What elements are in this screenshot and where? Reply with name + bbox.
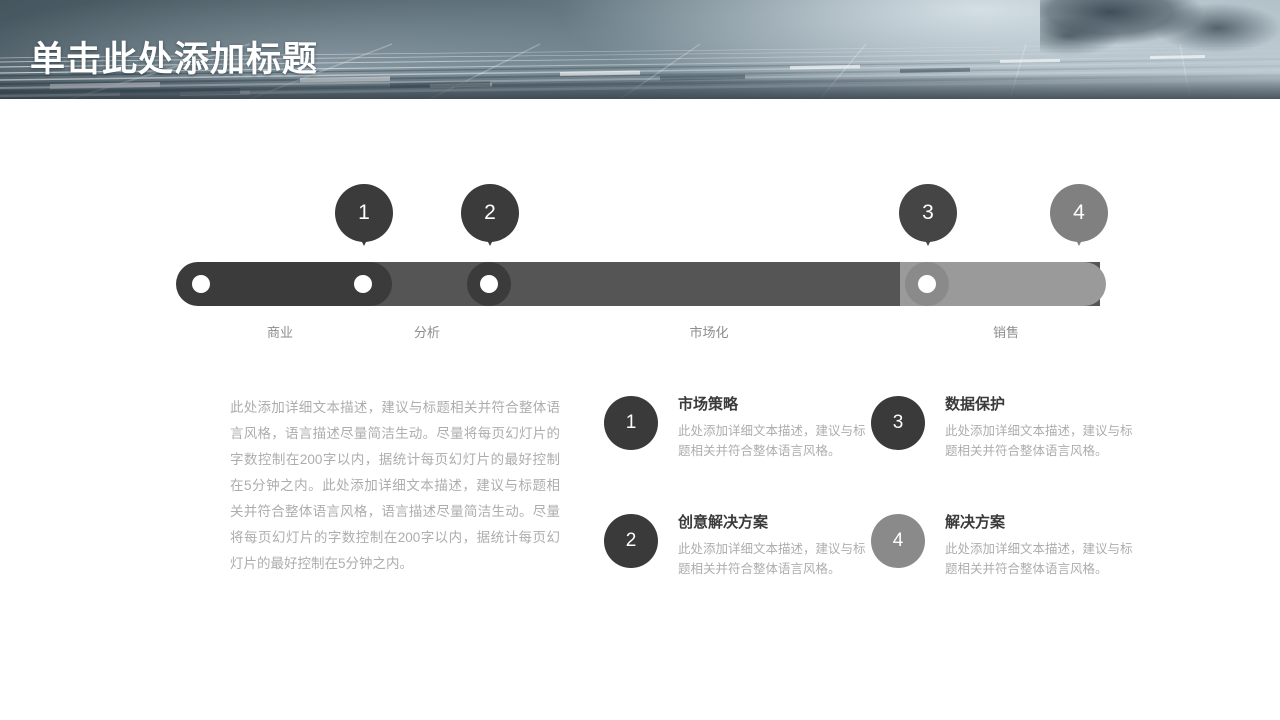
timeline-node-2[interactable] (341, 262, 385, 306)
timeline-phase-label-1: 商业 (267, 322, 293, 341)
timeline-node-dot (354, 275, 372, 293)
feature-item-text-block: 数据保护 此处添加详细文本描述，建议与标题相关并符合整体语言风格。 (945, 396, 1135, 461)
timeline-node-3[interactable] (467, 262, 511, 306)
dark-cloud-graphic (1040, 0, 1280, 62)
feature-item-text-block: 创意解决方案 此处添加详细文本描述，建议与标题相关并符合整体语言风格。 (678, 514, 868, 579)
timeline-node-dot (918, 275, 936, 293)
feature-item-title: 数据保护 (945, 396, 1135, 414)
timeline-pin-1[interactable]: 1 (335, 184, 393, 260)
feature-item-title: 解决方案 (945, 514, 1135, 532)
feature-item-4[interactable]: 4 解决方案 此处添加详细文本描述，建议与标题相关并符合整体语言风格。 (871, 514, 1136, 622)
feature-item-description: 此处添加详细文本描述，建议与标题相关并符合整体语言风格。 (945, 539, 1135, 579)
feature-item-number-badge: 4 (871, 514, 925, 568)
feature-item-title: 市场策略 (678, 396, 868, 414)
timeline-pin-4[interactable]: 4 (1050, 184, 1108, 260)
feature-item-number: 2 (626, 530, 637, 552)
timeline-node-4[interactable] (905, 262, 949, 306)
feature-item-number: 4 (893, 530, 904, 552)
timeline-pin-2[interactable]: 2 (461, 184, 519, 260)
feature-item-description: 此处添加详细文本描述，建议与标题相关并符合整体语言风格。 (678, 539, 868, 579)
feature-item-number-badge: 1 (604, 396, 658, 450)
timeline-widget: 1 2 3 4 商业 分析 市场化 销售 (0, 180, 1280, 350)
description-paragraph: 此处添加详细文本描述，建议与标题相关并符合整体语言风格，语言描述尽量简洁生动。尽… (230, 395, 560, 577)
feature-item-3[interactable]: 3 数据保护 此处添加详细文本描述，建议与标题相关并符合整体语言风格。 (871, 396, 1136, 504)
timeline-node-dot (192, 275, 210, 293)
timeline-pin-number: 2 (461, 184, 519, 242)
timeline-node-1[interactable] (179, 262, 223, 306)
page-title: 单击此处添加标题 (30, 31, 318, 82)
feature-item-number-badge: 2 (604, 514, 658, 568)
feature-item-number-badge: 3 (871, 396, 925, 450)
feature-item-description: 此处添加详细文本描述，建议与标题相关并符合整体语言风格。 (945, 421, 1135, 461)
timeline-pin-number: 3 (899, 184, 957, 242)
timeline-pin-number: 1 (335, 184, 393, 242)
timeline-pin-3[interactable]: 3 (899, 184, 957, 260)
timeline-phase-label-3: 市场化 (689, 322, 728, 341)
timeline-node-dot (480, 275, 498, 293)
timeline-phase-label-4: 销售 (993, 322, 1019, 341)
slide-header-banner: 单击此处添加标题 (0, 0, 1280, 99)
feature-item-text-block: 市场策略 此处添加详细文本描述，建议与标题相关并符合整体语言风格。 (678, 396, 868, 461)
timeline-phase-label-2: 分析 (414, 322, 440, 341)
feature-item-title: 创意解决方案 (678, 514, 868, 532)
feature-item-2[interactable]: 2 创意解决方案 此处添加详细文本描述，建议与标题相关并符合整体语言风格。 (604, 514, 869, 622)
feature-item-1[interactable]: 1 市场策略 此处添加详细文本描述，建议与标题相关并符合整体语言风格。 (604, 396, 869, 504)
timeline-pin-number: 4 (1050, 184, 1108, 242)
feature-item-number: 1 (626, 412, 637, 434)
feature-item-text-block: 解决方案 此处添加详细文本描述，建议与标题相关并符合整体语言风格。 (945, 514, 1135, 579)
feature-item-number: 3 (893, 412, 904, 434)
feature-item-description: 此处添加详细文本描述，建议与标题相关并符合整体语言风格。 (678, 421, 868, 461)
